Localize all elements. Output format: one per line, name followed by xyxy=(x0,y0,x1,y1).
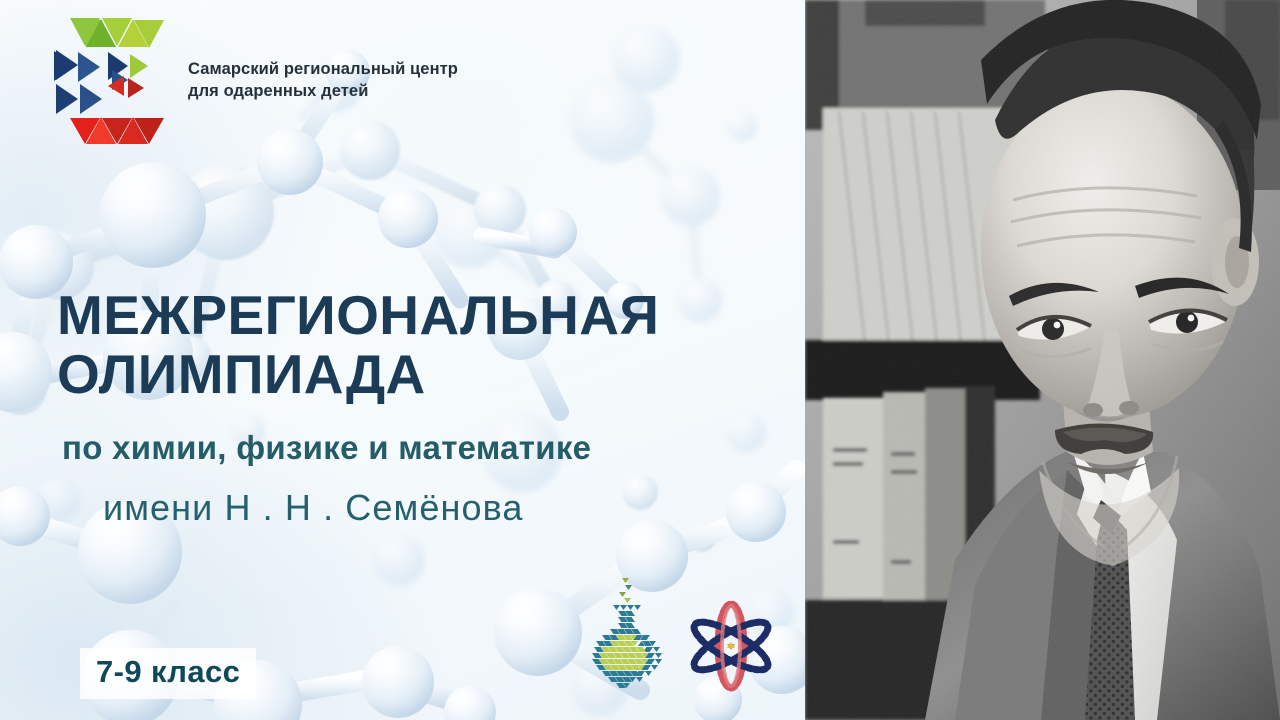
brand-text-block: Самарский региональный центр для одаренн… xyxy=(188,58,458,102)
samara-center-hexagon-logo-icon xyxy=(52,14,170,146)
page-title: МЕЖРЕГИОНАЛЬНАЯ ОЛИМПИАДА xyxy=(57,286,659,404)
atom-emblem xyxy=(689,598,773,694)
headline-line-2: ОЛИМПИАДА xyxy=(57,345,659,404)
left-content-panel: Самарский региональный центр для одаренн… xyxy=(0,0,805,720)
named-after-label: имени Н . Н . Семёнова xyxy=(103,487,524,529)
poster-canvas: Самарский региональный центр для одаренн… xyxy=(0,0,1280,720)
grade-badge: 7-9 класс xyxy=(80,648,256,699)
brand-logo-block: Самарский региональный центр для одаренн… xyxy=(52,14,458,146)
chemistry-flask-emblem xyxy=(588,576,666,700)
brand-line-2: для одаренных детей xyxy=(188,80,458,102)
subtitle: по химии, физике и математике xyxy=(62,429,591,467)
portrait-photo-graphic xyxy=(805,0,1280,720)
portrait-photo-nikolay-semyonov xyxy=(805,0,1280,720)
brand-line-1: Самарский региональный центр xyxy=(188,58,458,80)
headline-line-1: МЕЖРЕГИОНАЛЬНАЯ xyxy=(57,286,659,345)
